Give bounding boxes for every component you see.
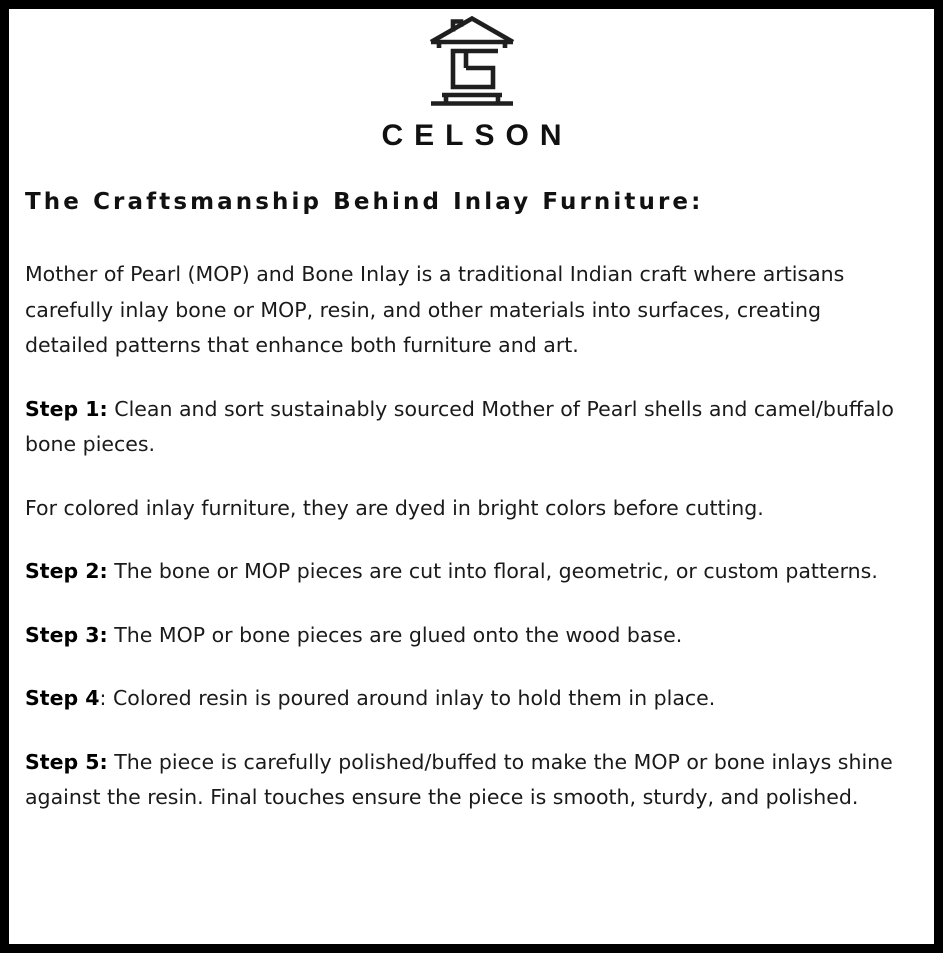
step-text: Clean and sort sustainably sourced Mothe…	[25, 397, 894, 457]
page-title: The Craftsmanship Behind Inlay Furniture…	[25, 189, 918, 217]
house-with-spiral-monogram-icon	[426, 15, 518, 109]
step-label: Step 5:	[25, 750, 108, 774]
step-paragraph: Step 4: Colored resin is poured around i…	[25, 681, 905, 717]
poster-card: CELSON The Craftsmanship Behind Inlay Fu…	[0, 0, 943, 953]
brand-lockup: CELSON	[9, 15, 934, 151]
step-text: Colored resin is poured around inlay to …	[106, 686, 715, 710]
note-text: For colored inlay furniture, they are dy…	[25, 496, 764, 520]
step-paragraph: Step 2: The bone or MOP pieces are cut i…	[25, 554, 905, 590]
article-body: Mother of Pearl (MOP) and Bone Inlay is …	[25, 257, 905, 816]
step-label: Step 3:	[25, 623, 108, 647]
step-paragraph: Step 3: The MOP or bone pieces are glued…	[25, 618, 905, 654]
intro-paragraph: Mother of Pearl (MOP) and Bone Inlay is …	[25, 257, 905, 364]
step-label: Step 1:	[25, 397, 108, 421]
step-text: The MOP or bone pieces are glued onto th…	[108, 623, 683, 647]
note-paragraph: For colored inlay furniture, they are dy…	[25, 491, 905, 527]
step-text: The bone or MOP pieces are cut into flor…	[108, 559, 878, 583]
step-paragraph: Step 5: The piece is carefully polished/…	[25, 745, 905, 816]
step-label: Step 2:	[25, 559, 108, 583]
brand-name: CELSON	[9, 121, 934, 151]
step-label: Step 4	[25, 686, 100, 710]
step-text: The piece is carefully polished/buffed t…	[25, 750, 893, 810]
step-paragraph: Step 1: Clean and sort sustainably sourc…	[25, 392, 905, 463]
